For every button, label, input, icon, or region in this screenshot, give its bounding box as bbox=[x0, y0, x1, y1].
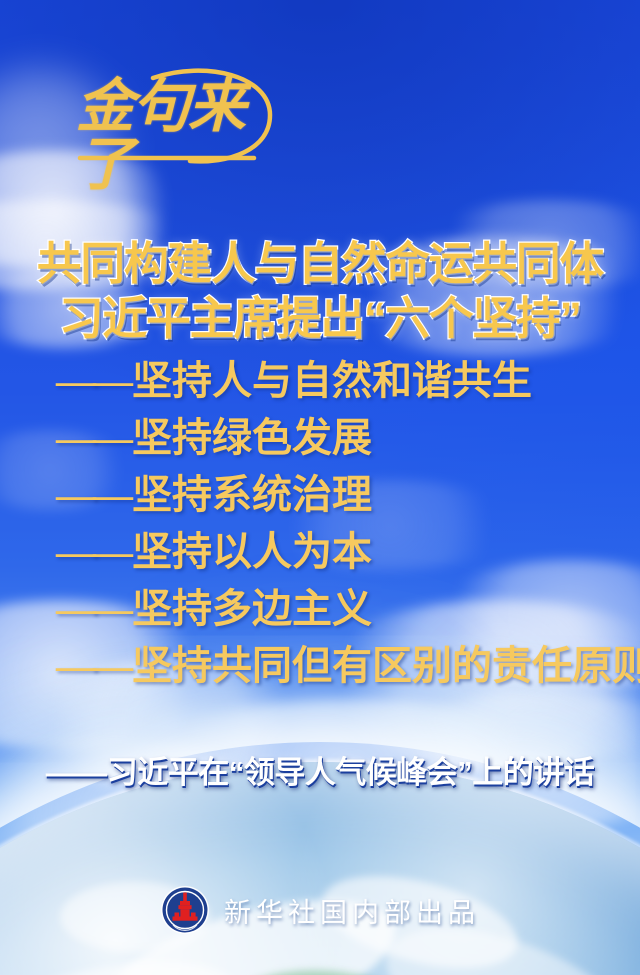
list-item: ——坚持绿色发展 bbox=[56, 409, 632, 466]
list-item-label: 坚持多边主义 bbox=[132, 586, 372, 631]
bullet-dash: —— bbox=[56, 586, 130, 631]
list-item-label: 坚持绿色发展 bbox=[132, 415, 372, 460]
list-item-label: 坚持以人为本 bbox=[132, 529, 372, 574]
brand-logo-text: 金句来了 bbox=[76, 78, 288, 194]
headline-line-2: 习近平主席提出“六个坚持” bbox=[3, 291, 637, 346]
headline: 共同构建人与自然命运共同体 习近平主席提出“六个坚持” bbox=[0, 236, 640, 346]
bullet-dash: —— bbox=[56, 472, 130, 517]
list-item: ——坚持人与自然和谐共生 bbox=[56, 352, 632, 409]
bullet-dash: —— bbox=[56, 415, 130, 460]
list-item: ——坚持多边主义 bbox=[56, 580, 632, 637]
bullet-dash: —— bbox=[56, 358, 130, 403]
list-item: ——坚持以人为本 bbox=[56, 523, 632, 580]
list-item: ——坚持系统治理 bbox=[56, 466, 632, 523]
xinhua-agency-emblem-icon bbox=[160, 885, 210, 935]
principles-list: ——坚持人与自然和谐共生 ——坚持绿色发展 ——坚持系统治理 ——坚持以人为本 … bbox=[56, 352, 632, 694]
poster-canvas: 金句来了 共同构建人与自然命运共同体 习近平主席提出“六个坚持” ——坚持人与自… bbox=[0, 0, 640, 975]
headline-line-1: 共同构建人与自然命运共同体 bbox=[3, 236, 637, 291]
footer-label: 新华社国内部出品 bbox=[224, 891, 480, 930]
list-item-label: 坚持人与自然和谐共生 bbox=[132, 358, 532, 403]
bullet-dash: —— bbox=[56, 529, 130, 574]
brand-logo: 金句来了 bbox=[58, 58, 288, 170]
list-item-label: 坚持系统治理 bbox=[132, 472, 372, 517]
list-item-label: 坚持共同但有区别的责任原则 bbox=[132, 643, 640, 688]
bullet-dash: —— bbox=[56, 643, 130, 688]
attribution-line: ——习近平在“领导人气候峰会”上的讲话 bbox=[0, 753, 640, 793]
list-item: ——坚持共同但有区别的责任原则 bbox=[56, 637, 632, 694]
footer: 新华社国内部出品 bbox=[0, 885, 640, 935]
